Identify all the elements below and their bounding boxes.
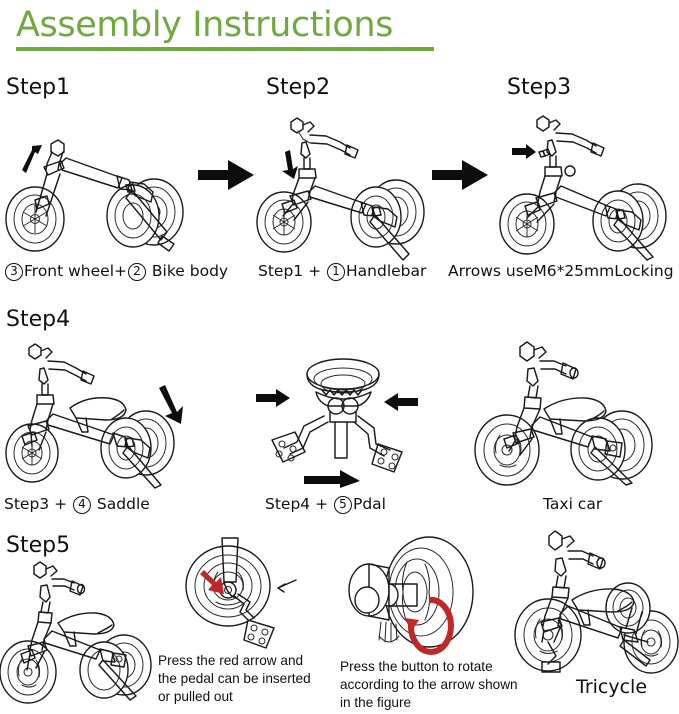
caption-tricycle: Tricycle: [576, 678, 647, 697]
note-pedal-insert-line-1: Press the red arrow and: [158, 652, 318, 670]
circled-number-2: 2: [128, 263, 146, 281]
note-rotate-button-line-1: Press the button to rotate: [340, 658, 530, 676]
caption-step1-text-a: Front wheel+: [24, 262, 127, 280]
caption-step2-text-a: Step1 +: [258, 262, 326, 280]
circled-number-5: 5: [334, 496, 352, 514]
note-pedal-insert: Press the red arrow and the pedal can be…: [158, 652, 318, 706]
note-rotate-button-line-3: in the figure: [340, 694, 530, 712]
caption-step5-text-b: Pdal: [353, 495, 386, 513]
figure-pedal-insert-detail: [178, 538, 308, 658]
step-label-2: Step2: [266, 76, 330, 100]
figure-taxi-car-complete: [470, 335, 670, 485]
connector-arrow-2: [432, 157, 492, 193]
connector-arrow-1: [198, 157, 258, 193]
caption-step1-text-b: Bike body: [147, 262, 228, 280]
figure-step5-bike: [2, 560, 167, 710]
caption-step4-text-a: Step3 +: [4, 495, 72, 513]
circled-number-3: 3: [5, 263, 23, 281]
figure-step4-saddle: [8, 340, 218, 488]
caption-step4-saddle: Step3 + 4 Saddle: [4, 495, 150, 514]
step-label-1: Step1: [6, 76, 70, 100]
figure-rotate-button-detail: [345, 532, 490, 657]
note-rotate-button-line-2: according to the arrow shown: [340, 676, 530, 694]
title-underline: [16, 47, 434, 51]
note-pedal-insert-line-3: or pulled out: [158, 688, 318, 706]
figure-step3-locking-screw: [490, 112, 678, 260]
page-title: Assembly Instructions: [16, 4, 436, 46]
caption-step2: Step1 + 1Handlebar: [258, 262, 426, 281]
caption-step2-text-b: Handlebar: [346, 262, 426, 280]
caption-step1: 3Front wheel+2 Bike body: [4, 262, 228, 281]
figure-step2-handlebar: [254, 112, 439, 260]
caption-step5-text-a: Step4 +: [265, 495, 333, 513]
step-label-3: Step3: [507, 76, 571, 100]
step-label-5: Step5: [6, 534, 70, 558]
circled-number-4: 4: [73, 496, 91, 514]
note-rotate-button: Press the button to rotate according to …: [340, 658, 530, 712]
figure-step5-pedal-assembly: [250, 348, 425, 488]
caption-taxi-car: Taxi car: [543, 495, 602, 514]
assembly-instructions-page: Assembly Instructions Step1 Step2 Step3: [0, 0, 679, 714]
page-title-block: Assembly Instructions: [16, 4, 436, 51]
note-pedal-insert-line-2: the pedal can be inserted: [158, 670, 318, 688]
circled-number-1: 1: [327, 263, 345, 281]
caption-step3: Arrows useM6*25mmLocking: [448, 262, 674, 281]
caption-step4-text-b: Saddle: [92, 495, 150, 513]
caption-step5-pedal: Step4 + 5Pdal: [265, 495, 386, 514]
figure-step1-frame-front-wheel: [2, 112, 197, 260]
step-label-4: Step4: [6, 308, 70, 332]
